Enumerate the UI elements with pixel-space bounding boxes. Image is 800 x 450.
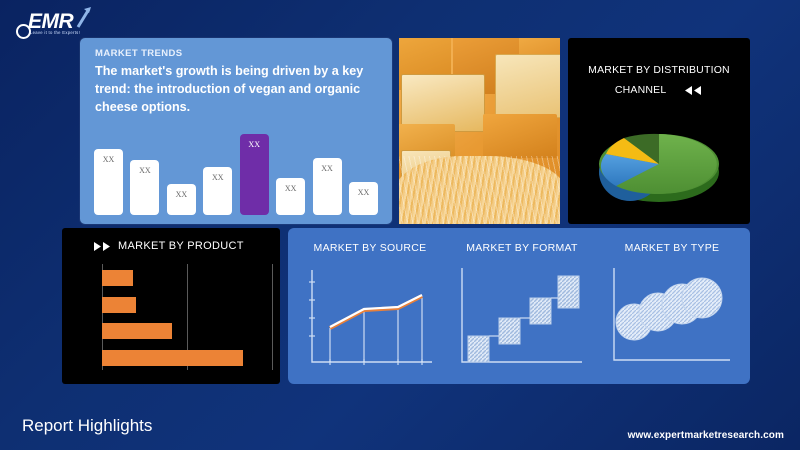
distribution-title-line1: MARKET BY DISTRIBUTION [568, 60, 750, 80]
trend-bar: XX [276, 178, 305, 215]
trend-bar: XX [130, 160, 159, 215]
report-highlights-title: Report Highlights [22, 416, 152, 436]
distribution-title: MARKET BY DISTRIBUTION CHANNEL [568, 60, 750, 100]
trend-bar-label: XX [94, 155, 123, 164]
trend-bar-label: XX [313, 164, 342, 173]
trend-bar: XX [167, 184, 196, 215]
cheese-block [495, 54, 560, 118]
market-trends-label: MARKET TRENDS [95, 48, 183, 59]
trend-bar-label: XX [167, 190, 196, 199]
product-bar [102, 350, 243, 366]
growth-arrow-icon [76, 6, 92, 28]
distribution-title-line2: CHANNEL [615, 84, 666, 96]
market-by-source-chart [304, 266, 436, 370]
market-by-format-panel: MARKET BY FORMAT [448, 228, 596, 384]
distribution-pie-chart [568, 110, 750, 215]
trend-bar-label: XX [203, 173, 232, 182]
trend-bar-label: XX [349, 188, 378, 197]
market-trends-text: The market's growth is being driven by a… [95, 62, 377, 116]
market-by-distribution-channel-panel: MARKET BY DISTRIBUTION CHANNEL [568, 38, 750, 224]
trend-bar: XX [240, 134, 269, 215]
trend-bar: XX [94, 149, 123, 215]
trend-bar: XX [313, 158, 342, 215]
market-by-type-title: MARKET BY TYPE [598, 242, 746, 254]
trend-bar: XX [203, 167, 232, 215]
product-bar [102, 297, 136, 313]
shredded-cheese [399, 156, 560, 224]
market-by-source-panel: MARKET BY SOURCE [294, 228, 446, 384]
emr-logo[interactable]: EMR Leave it to the Experts! [14, 6, 104, 38]
product-bar [102, 323, 172, 339]
market-trends-bar-chart: XXXXXXXXXXXXXXXX [94, 123, 378, 215]
market-trends-panel: MARKET TRENDS The market's growth is bei… [80, 38, 392, 224]
double-chevron-right-icon [92, 241, 112, 252]
cheese-photo [399, 38, 560, 224]
market-by-product-panel: MARKET BY PRODUCT [62, 228, 280, 384]
website-url[interactable]: www.expertmarketresearch.com [628, 430, 784, 441]
market-by-product-title: MARKET BY PRODUCT [118, 240, 244, 252]
logo-tagline: Leave it to the Experts! [30, 30, 80, 35]
market-by-format-chart [458, 266, 586, 370]
market-by-format-title: MARKET BY FORMAT [448, 242, 596, 254]
double-chevron-left-icon [683, 85, 703, 96]
bottom-charts-panel: MARKET BY SOURCE MARKET BY FORMAT [288, 228, 750, 384]
market-by-type-chart [608, 266, 736, 370]
cheese-block [483, 114, 557, 158]
trend-bar-label: XX [240, 140, 269, 149]
gridline [272, 264, 273, 370]
trend-bar-label: XX [130, 166, 159, 175]
trend-bar-label: XX [276, 184, 305, 193]
product-bar [102, 270, 133, 286]
trend-bar: XX [349, 182, 378, 215]
distribution-title-line2-row: CHANNEL [568, 80, 750, 100]
market-by-type-panel: MARKET BY TYPE [598, 228, 746, 384]
market-by-product-bar-chart [102, 264, 272, 370]
market-by-source-title: MARKET BY SOURCE [294, 242, 446, 254]
